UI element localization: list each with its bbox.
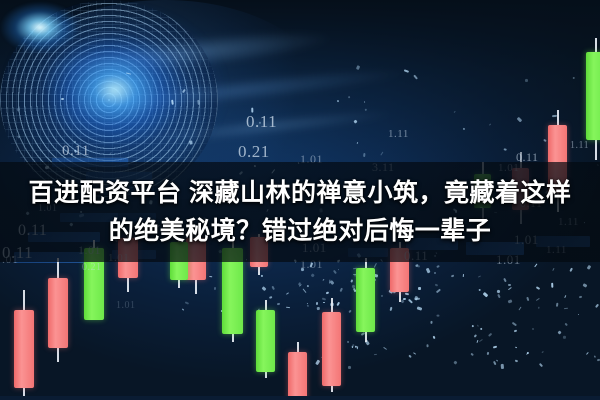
headline-line-1: 百进配资平台 深藏山林的禅意小筑，竟藏着这样 (29, 176, 572, 210)
price-number: 0.21 (82, 262, 102, 273)
price-number: 1.01 (116, 300, 136, 311)
banner-image: 0.111.010.110.111.010.211.010.110.211.01… (0, 0, 600, 400)
bottom-rule (0, 396, 600, 400)
price-number: 0.11 (246, 112, 277, 132)
price-number: 0.21 (238, 142, 270, 162)
headline-line-2: 的绝美秘境？错过绝对后悔一辈子 (109, 214, 492, 248)
price-number: 1.11 (570, 140, 589, 151)
price-number: 0.11 (62, 143, 90, 160)
price-number: 1.11 (388, 128, 409, 140)
headline-block: 百进配资平台 深藏山林的禅意小筑，竟藏着这样 的绝美秘境？错过绝对后悔一辈子 (0, 162, 600, 262)
